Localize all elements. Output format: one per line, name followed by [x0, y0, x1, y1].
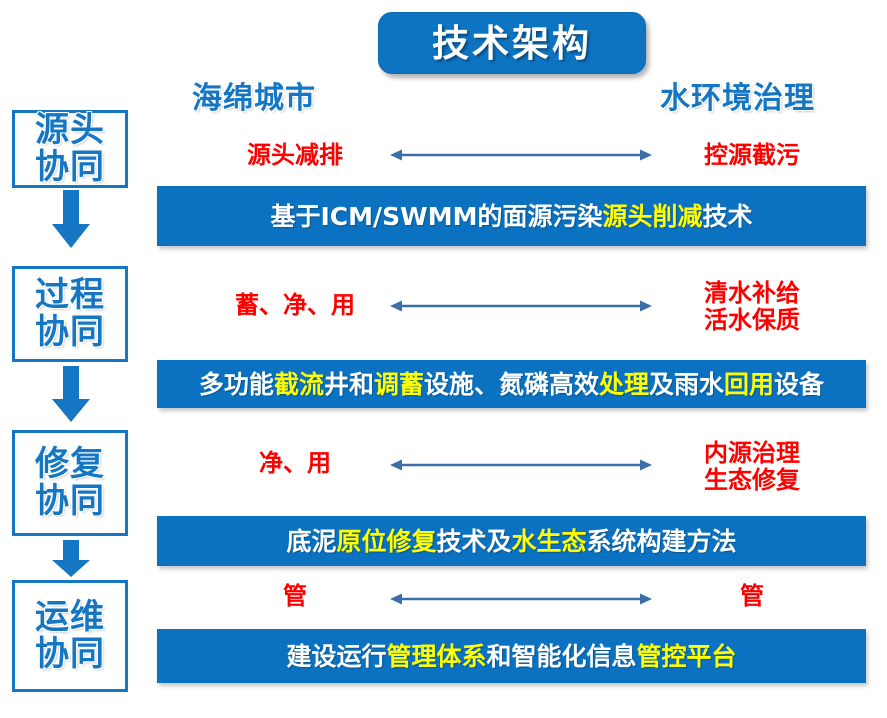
page-title: 技术架构: [432, 25, 592, 62]
tech-bar-text: 多功能截流井和调蓄设施、氮磷高效处理及雨水回用设备: [199, 372, 824, 397]
stage-label-line2: 协同: [35, 314, 105, 351]
stage-label-line1: 修复: [35, 446, 105, 483]
stage-box-4: 运维 协同: [12, 580, 128, 692]
tech-bar-row2: 多功能截流井和调蓄设施、氮磷高效处理及雨水回用设备: [157, 360, 866, 408]
link-arrow-row3: [390, 456, 652, 474]
tech-bar-text: 建设运行管理体系和智能化信息管控平台: [286, 644, 736, 669]
link-arrow-row1: [390, 146, 652, 164]
tech-bar-row1: 基于ICM/SWMM的面源污染源头削减技术: [157, 186, 866, 246]
stage-box-1: 源头 协同: [12, 110, 128, 188]
flow-arrow-down-3: [52, 540, 90, 578]
tech-bar-text: 基于ICM/SWMM的面源污染源头削减技术: [270, 204, 752, 229]
link-arrow-row2: [390, 297, 652, 315]
keyword-right-row2: 清水补给活水保质: [662, 280, 842, 334]
stage-label-line1: 过程: [35, 277, 105, 314]
stage-box-3: 修复 协同: [12, 430, 128, 536]
tech-bar-text: 底泥原位修复技术及水生态系统构建方法: [286, 529, 736, 554]
column-header-water-environment: 水环境治理: [660, 84, 815, 114]
tech-bar-row3: 底泥原位修复技术及水生态系统构建方法: [157, 516, 866, 566]
diagram-title-badge: 技术架构: [378, 12, 646, 74]
keyword-right-row1: 控源截污: [662, 142, 842, 169]
flow-arrow-down-1: [52, 190, 90, 250]
stage-label-line2: 协同: [35, 149, 105, 186]
tech-bar-row4: 建设运行管理体系和智能化信息管控平台: [157, 629, 866, 683]
keyword-left-row1: 源头减排: [215, 142, 375, 169]
keyword-left-row3: 净、用: [215, 450, 375, 477]
link-arrow-row4: [390, 590, 652, 608]
stage-label-line2: 协同: [35, 483, 105, 520]
keyword-right-row4: 管: [662, 583, 842, 610]
stage-label-line1: 运维: [35, 599, 105, 636]
keyword-left-row2: 蓄、净、用: [215, 292, 375, 319]
stage-label-line1: 源头: [35, 112, 105, 149]
keyword-right-row3: 内源治理生态修复: [662, 440, 842, 494]
column-header-sponge-city: 海绵城市: [192, 84, 316, 114]
flow-arrow-down-2: [52, 366, 90, 424]
stage-label-line2: 协同: [35, 636, 105, 673]
stage-box-2: 过程 协同: [12, 266, 128, 362]
keyword-left-row4: 管: [215, 583, 375, 610]
